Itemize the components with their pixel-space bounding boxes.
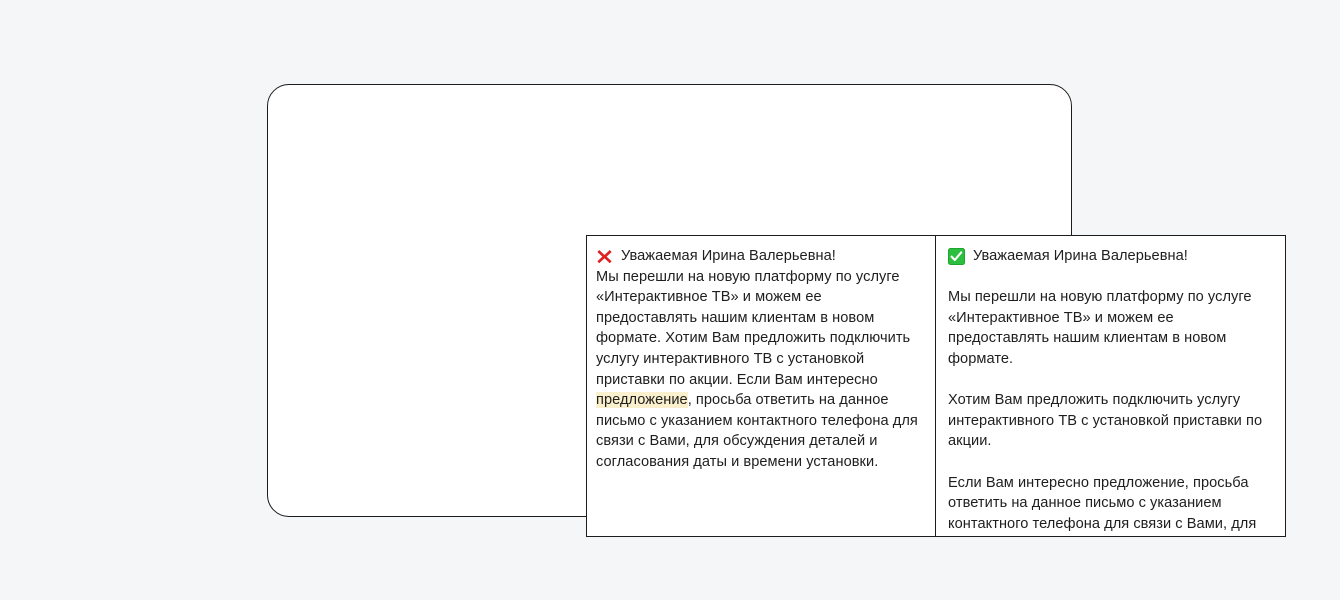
after-paragraph-2: Хотим Вам предложить подключить услугу и… [948, 390, 1273, 452]
page-root: Уважаемая Ирина Валерьевна! Мы перешли н… [0, 0, 1340, 600]
check-mark-button-icon [948, 248, 965, 265]
before-greeting: Уважаемая Ирина Валерьевна! [621, 246, 836, 267]
after-greeting: Уважаемая Ирина Валерьевна! [973, 246, 1188, 267]
highlighted-word: предложение [596, 392, 688, 408]
after-paragraph-3: Если Вам интересно предложение, просьба … [948, 473, 1273, 536]
comparison-column-after: Уважаемая Ирина Валерьевна! Мы перешли н… [936, 236, 1285, 536]
comparison-column-before: Уважаемая Ирина Валерьевна! Мы перешли н… [587, 236, 936, 536]
before-body-part-1: Мы перешли на новую платформу по услуге … [596, 269, 910, 388]
content-card: Уважаемая Ирина Валерьевна! Мы перешли н… [267, 84, 1072, 517]
comparison-table: Уважаемая Ирина Валерьевна! Мы перешли н… [586, 235, 1286, 537]
after-paragraph-1: Мы перешли на новую платформу по услуге … [948, 287, 1273, 369]
before-body: Мы перешли на новую платформу по услуге … [596, 267, 923, 473]
cross-mark-icon [596, 248, 613, 265]
before-heading-row: Уважаемая Ирина Валерьевна! [596, 246, 923, 267]
after-heading-row: Уважаемая Ирина Валерьевна! [948, 246, 1273, 267]
